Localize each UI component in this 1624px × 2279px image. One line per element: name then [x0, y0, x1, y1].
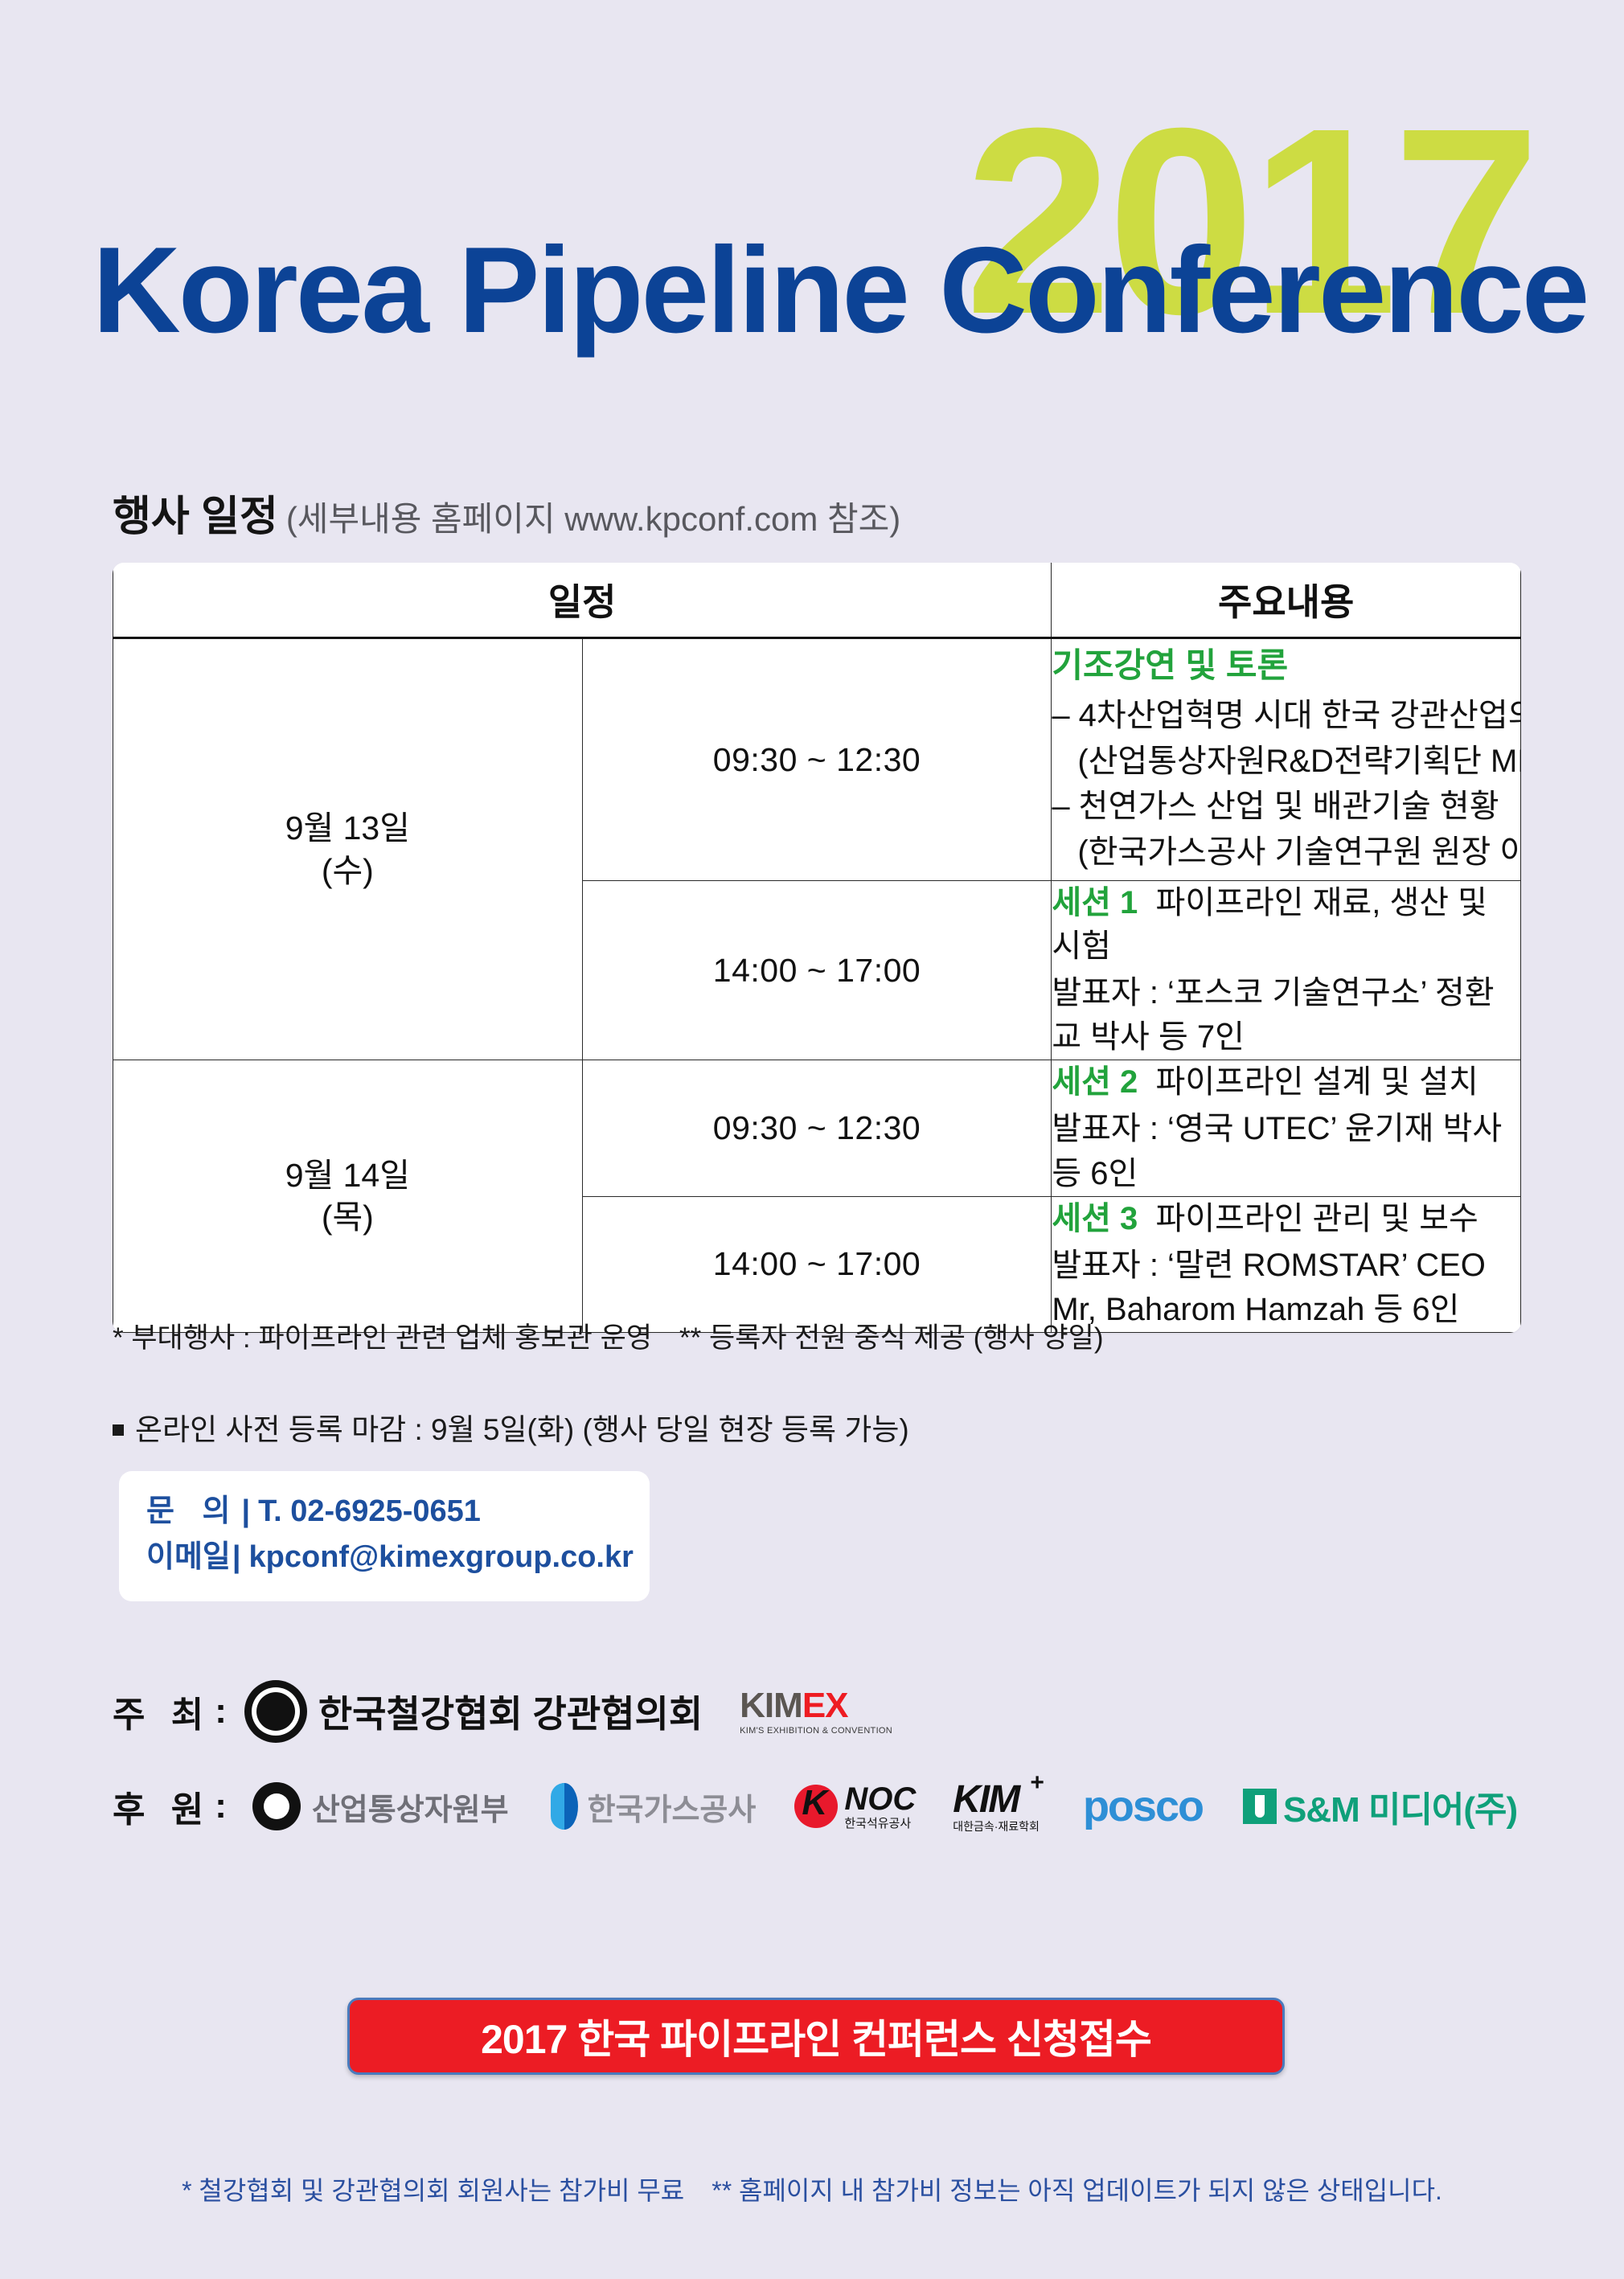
- date-line-1: 9월 14일: [113, 1154, 582, 1196]
- host-row: 주 최 : 한국철강협회 강관협의회 KIMEX KIM'S EXHIBITIO…: [113, 1680, 892, 1743]
- keynote-item-text: (한국가스공사 기술연구원 원장 이성민 박사): [1077, 834, 1521, 870]
- contact-email-label: 이메일: [146, 1540, 231, 1574]
- content-cell-keynote: 기조강연 및 토론 – 4차산업혁명 시대 한국 강관산업의 미래 발전전략 (…: [1052, 638, 1521, 881]
- pre-registration-note: 온라인 사전 등록 마감 : 9월 5일(화) (행사 당일 현장 등록 가능): [113, 1405, 909, 1449]
- footnote-lunch: ** 등록자 전원 중식 제공 (행사 양일): [679, 1322, 1104, 1354]
- time-label: 14:00 ~ 17:00: [583, 1245, 1052, 1283]
- schedule-heading-title: 행사 일정: [113, 494, 278, 540]
- kimex-logo: KIMEX KIM'S EXHIBITION & CONVENTION: [740, 1688, 892, 1736]
- schedule-table-body: 9월 13일 (수) 09:30 ~ 12:30 기조강연 및 토론 – 4차산…: [113, 638, 1521, 1333]
- content-cell-session3: 세션 3 파이프라인 관리 및 보수 발표자 : ‘말련 ROMSTAR’ CE…: [1052, 1196, 1521, 1332]
- time-label: 09:30 ~ 12:30: [583, 741, 1052, 779]
- kimex-logo-part1: KIM: [740, 1686, 802, 1725]
- column-header-schedule: 일정: [113, 563, 1052, 638]
- time-cell: 14:00 ~ 17:00: [582, 1196, 1052, 1332]
- sponsor-row: 후 원 : 산업통상자원부 한국가스공사 NOC 한국석유공사 KIM+ 대한금…: [113, 1781, 1517, 1832]
- plus-icon: +: [1030, 1771, 1044, 1795]
- kimex-logo-part2: EX: [802, 1686, 848, 1725]
- schedule-table-container: 일정 주요내용 9월 13일 (수) 09:30 ~ 12:30 기조강연 및 …: [113, 563, 1521, 1333]
- date-line-2: (목): [113, 1196, 582, 1238]
- poster-root: 2017 Korea Pipeline Conference 행사 일정(세부내…: [0, 0, 1624, 2279]
- poster-footnotes: * 철강협회 및 강관협의회 회원사는 참가비 무료** 홈페이지 내 참가비 …: [0, 2170, 1624, 2207]
- session-title-line: 세션 2 파이프라인 설계 및 설치: [1052, 1060, 1520, 1104]
- time-cell: 14:00 ~ 17:00: [582, 881, 1052, 1060]
- poster-header: 2017 Korea Pipeline Conference: [0, 72, 1624, 394]
- footer-note-update: ** 홈페이지 내 참가비 정보는 아직 업데이트가 되지 않은 상태입니다.: [712, 2176, 1442, 2205]
- time-cell: 09:30 ~ 12:30: [582, 638, 1052, 881]
- date-line-1: 9월 13일: [113, 807, 582, 849]
- registration-cta-button[interactable]: 2017 한국 파이프라인 컨퍼런스 신청접수: [347, 1998, 1285, 2075]
- posco-logo: posco: [1083, 1781, 1203, 1831]
- session-topic: 파이프라인 설계 및 설치: [1156, 1064, 1478, 1100]
- table-footnotes: * 부대행사 : 파이프라인 관련 업체 홍보관 운영** 등록자 전원 중식 …: [113, 1315, 1104, 1356]
- date-cell-sep13: 9월 13일 (수): [113, 638, 583, 1060]
- content-cell-session1: 세션 1 파이프라인 재료, 생산 및 시험 발표자 : ‘포스코 기술연구소’…: [1052, 881, 1521, 1060]
- kim-logo-sub: 대한금속·재료학회: [953, 1821, 1040, 1832]
- sponsor-label: 후 원: [113, 1781, 211, 1832]
- time-cell: 09:30 ~ 12:30: [582, 1060, 1052, 1196]
- content-cell-session2: 세션 2 파이프라인 설계 및 설치 발표자 : ‘영국 UTEC’ 윤기재 박…: [1052, 1060, 1521, 1196]
- contact-phone-value[interactable]: T. 02-6925-0651: [258, 1494, 481, 1528]
- schedule-table-head: 일정 주요내용: [113, 563, 1521, 638]
- schedule-heading-subtitle: (세부내용 홈페이지 www.kpconf.com 참조): [286, 500, 900, 538]
- kogas-flame-icon: [551, 1783, 578, 1830]
- schedule-heading: 행사 일정(세부내용 홈페이지 www.kpconf.com 참조): [113, 482, 900, 543]
- snm-mark-icon: [1243, 1789, 1277, 1824]
- taegeuk-icon: [252, 1782, 301, 1830]
- kisa-seal-icon: [244, 1680, 307, 1743]
- kogas-logo: 한국가스공사: [551, 1783, 757, 1830]
- session-speaker: 발표자 : ‘포스코 기술연구소’ 정환교 박사 등 7인: [1052, 971, 1520, 1060]
- kim-logo-text: KIM: [953, 1778, 1019, 1821]
- column-header-content: 주요내용: [1052, 563, 1521, 638]
- contact-phone-row: 문 의|T. 02-6925-0651: [146, 1489, 622, 1535]
- contact-box: 문 의|T. 02-6925-0651 이메일|kpconf@kimexgrou…: [119, 1471, 650, 1601]
- table-row: 9월 13일 (수) 09:30 ~ 12:30 기조강연 및 토론 – 4차산…: [113, 638, 1521, 881]
- square-bullet-icon: [113, 1424, 124, 1436]
- sponsor-colon: :: [215, 1786, 227, 1826]
- keynote-item-text: (산업통상자원R&D전략기획단 MD 장웅성 박사): [1077, 744, 1521, 779]
- session-label: 세션 2: [1052, 1064, 1138, 1100]
- keynote-item: – 천연가스 산업 및 배관기술 현황: [1052, 784, 1520, 830]
- motie-logo: 산업통상자원부: [252, 1782, 509, 1830]
- contact-separator: |: [241, 1494, 250, 1528]
- keynote-item: (산업통상자원R&D전략기획단 MD 장웅성 박사): [1052, 739, 1520, 785]
- keynote-item: – 4차산업혁명 시대 한국 강관산업의 미래 발전전략: [1052, 693, 1520, 739]
- session-topic: 파이프라인 관리 및 보수: [1156, 1201, 1478, 1236]
- conference-title: Korea Pipeline Conference: [92, 229, 1587, 351]
- session-speaker: 발표자 : ‘말련 ROMSTAR’ CEO Mr, Baharom Hamza…: [1052, 1244, 1520, 1332]
- session-title-line: 세션 1 파이프라인 재료, 생산 및 시험: [1052, 881, 1520, 968]
- pre-registration-text: 온라인 사전 등록 마감 : 9월 5일(화) (행사 당일 현장 등록 가능): [135, 1413, 909, 1446]
- date-cell-sep14: 9월 14일 (목): [113, 1060, 583, 1333]
- table-header-row: 일정 주요내용: [113, 563, 1521, 638]
- registration-cta-label: 2017 한국 파이프라인 컨퍼런스 신청접수: [481, 2007, 1151, 2065]
- contact-separator: |: [232, 1540, 241, 1574]
- session-title-line: 세션 3 파이프라인 관리 및 보수: [1052, 1197, 1520, 1240]
- host-name: 한국철강협회 강관협의회: [318, 1685, 703, 1738]
- keynote-label: 기조강연 및 토론: [1052, 644, 1520, 688]
- time-label: 14:00 ~ 17:00: [583, 952, 1052, 990]
- kim-logo: KIM+ 대한금속·재료학회: [953, 1781, 1040, 1832]
- snm-media-logo-text: S&M 미디어(주): [1283, 1781, 1517, 1832]
- knoc-logo-text: NOC: [844, 1781, 916, 1817]
- contact-email-row: 이메일|kpconf@kimexgroup.co.kr: [146, 1535, 622, 1580]
- date-line-2: (수): [113, 850, 582, 892]
- session-speaker: 발표자 : ‘영국 UTEC’ 윤기재 박사 등 6인: [1052, 1107, 1520, 1195]
- footer-note-free: * 철강협회 및 강관협의회 회원사는 참가비 무료: [182, 2176, 684, 2205]
- host-colon: :: [215, 1691, 227, 1732]
- knoc-logo: NOC 한국석유공사: [794, 1783, 916, 1830]
- time-label: 09:30 ~ 12:30: [583, 1109, 1052, 1147]
- snm-media-logo: S&M 미디어(주): [1243, 1781, 1517, 1832]
- keynote-item: (한국가스공사 기술연구원 원장 이성민 박사): [1052, 830, 1520, 875]
- kogas-logo-text: 한국가스공사: [588, 1785, 757, 1829]
- contact-email-value[interactable]: kpconf@kimexgroup.co.kr: [249, 1540, 634, 1574]
- schedule-table: 일정 주요내용 9월 13일 (수) 09:30 ~ 12:30 기조강연 및 …: [113, 563, 1521, 1333]
- footnote-side-event: * 부대행사 : 파이프라인 관련 업체 홍보관 운영: [113, 1322, 652, 1354]
- table-row: 9월 14일 (목) 09:30 ~ 12:30 세션 2 파이프라인 설계 및…: [113, 1060, 1521, 1196]
- motie-logo-text: 산업통상자원부: [312, 1785, 509, 1829]
- knoc-logo-sub: 한국석유공사: [844, 1818, 916, 1830]
- kimex-logo-tagline: KIM'S EXHIBITION & CONVENTION: [740, 1727, 892, 1736]
- knoc-k-icon: [794, 1785, 838, 1828]
- session-label: 세션 1: [1052, 885, 1138, 920]
- host-label: 주 최: [113, 1686, 211, 1737]
- contact-phone-label: 문 의: [146, 1494, 240, 1528]
- session-label: 세션 3: [1052, 1201, 1138, 1236]
